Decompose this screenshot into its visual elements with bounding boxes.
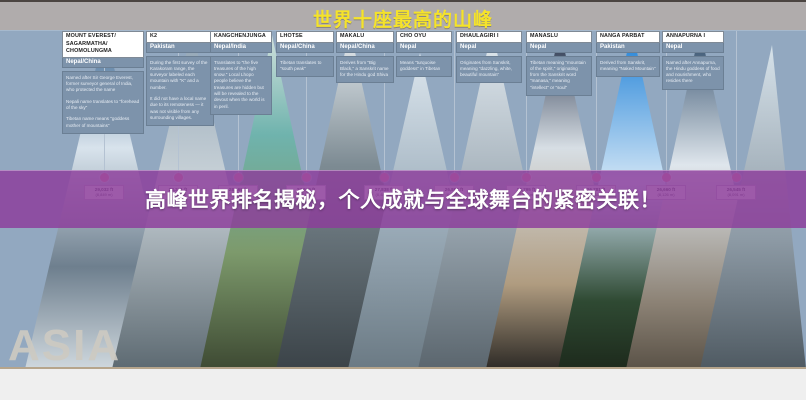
peak-country: Nepal/India [210,43,272,53]
peak-note: It did not have a local name due to its … [150,96,210,121]
peak-card[interactable]: KANGCHENJUNGANepal/IndiaTranslates to "t… [210,31,272,115]
peak-notes: Named after Annapurna, the Hindu goddess… [662,56,724,90]
peak-name: MAKALU [336,31,394,43]
peak-country: Nepal/China [62,58,144,68]
peak-note: Derived from Sanskrit, meaning "Naked Mo… [600,60,656,73]
peak-card[interactable]: MANASLUNepalTibetan meaning "mountain of… [526,31,592,96]
peak-notes: Derived from Sanskrit, meaning "Naked Mo… [596,56,660,78]
peak-notes: Tibetan translates to "south peak" [276,56,334,78]
peak-card[interactable]: MAKALUNepal/ChinaDerives from "Big Black… [336,31,394,83]
peak-country: Nepal/China [276,43,334,53]
peak-note: Tibetan translates to "south peak" [280,60,330,73]
promo-banner: 高峰世界排名揭秘，个人成就与全球舞台的紧密关联！ [0,170,806,228]
peak-card[interactable]: NANGA PARBATPakistanDerived from Sanskri… [596,31,660,77]
peak-note: During the first survey of the Karakoram… [150,60,210,91]
peak-note: Named after Sir George Everest, former s… [66,75,140,94]
peak-name: DHAULAGIRI I [456,31,522,43]
peak-country: Nepal [456,43,522,53]
peak-cards: MOUNT EVEREST/ SAGARMATHA/ CHOMOLUNGMANe… [0,31,806,166]
peak-note: Named after Annapurna, the Hindu goddess… [666,60,720,85]
peak-name: LHOTSE [276,31,334,43]
peak-notes: Means "turquoise goddess" in Tibetan [396,56,452,78]
peak-notes: During the first survey of the Karakoram… [146,56,214,127]
peak-notes: Derives from "Big Black," a Sanskrit nam… [336,56,394,84]
peak-notes: Named after Sir George Everest, former s… [62,71,144,134]
peak-note: Derives from "Big Black," a Sanskrit nam… [340,60,390,79]
peak-country: Pakistan [146,43,214,53]
peak-notes: Tibetan meaning "mountain of the spirit,… [526,56,592,96]
peak-note: Tibetan meaning "mountain of the spirit,… [530,60,588,91]
peak-name: ANNAPURNA I [662,31,724,43]
peak-country: Pakistan [596,43,660,53]
peak-name: KANGCHENJUNGA [210,31,272,43]
ground-baseline [0,367,806,400]
continent-label: ASIA [8,321,121,371]
peak-name: MANASLU [526,31,592,43]
peak-card[interactable]: K2PakistanDuring the first survey of the… [146,31,214,126]
peak-card[interactable]: ANNAPURNA INepalNamed after Annapurna, t… [662,31,724,90]
page-title: 世界十座最高的山峰 [0,5,806,32]
peak-card[interactable]: LHOTSENepal/ChinaTibetan translates to "… [276,31,334,77]
peak-notes: Translates to "the five treasures of the… [210,56,272,115]
peak-country: Nepal [526,43,592,53]
header-band: 世界十座最高的山峰 [0,0,806,32]
peak-note: Originates from Sanskrit, meaning "dazzl… [460,60,518,79]
peak-card[interactable]: MOUNT EVEREST/ SAGARMATHA/ CHOMOLUNGMANe… [62,31,144,134]
peak-country: Nepal/China [336,43,394,53]
peak-note: Translates to "the five treasures of the… [214,60,268,110]
peak-name: CHO OYU [396,31,452,43]
peak-country: Nepal [662,43,724,53]
banner-divider [0,170,806,171]
peak-name: K2 [146,31,214,43]
peak-name: MOUNT EVEREST/ SAGARMATHA/ CHOMOLUNGMA [62,31,144,58]
peak-card[interactable]: CHO OYUNepalMeans "turquoise goddess" in… [396,31,452,77]
promo-banner-text: 高峰世界排名揭秘，个人成就与全球舞台的紧密关联！ [145,184,661,214]
peak-note: Means "turquoise goddess" in Tibetan [400,60,448,73]
peak-name: NANGA PARBAT [596,31,660,43]
peak-card[interactable]: DHAULAGIRI INepalOriginates from Sanskri… [456,31,522,83]
peak-note: Tibetan name means "goddess mother of mo… [66,116,140,129]
peak-country: Nepal [396,43,452,53]
infographic-stage: 世界十座最高的山峰 [0,0,806,400]
peak-note: Nepali name translates to "forehead of t… [66,99,140,112]
peak-notes: Originates from Sanskrit, meaning "dazzl… [456,56,522,84]
